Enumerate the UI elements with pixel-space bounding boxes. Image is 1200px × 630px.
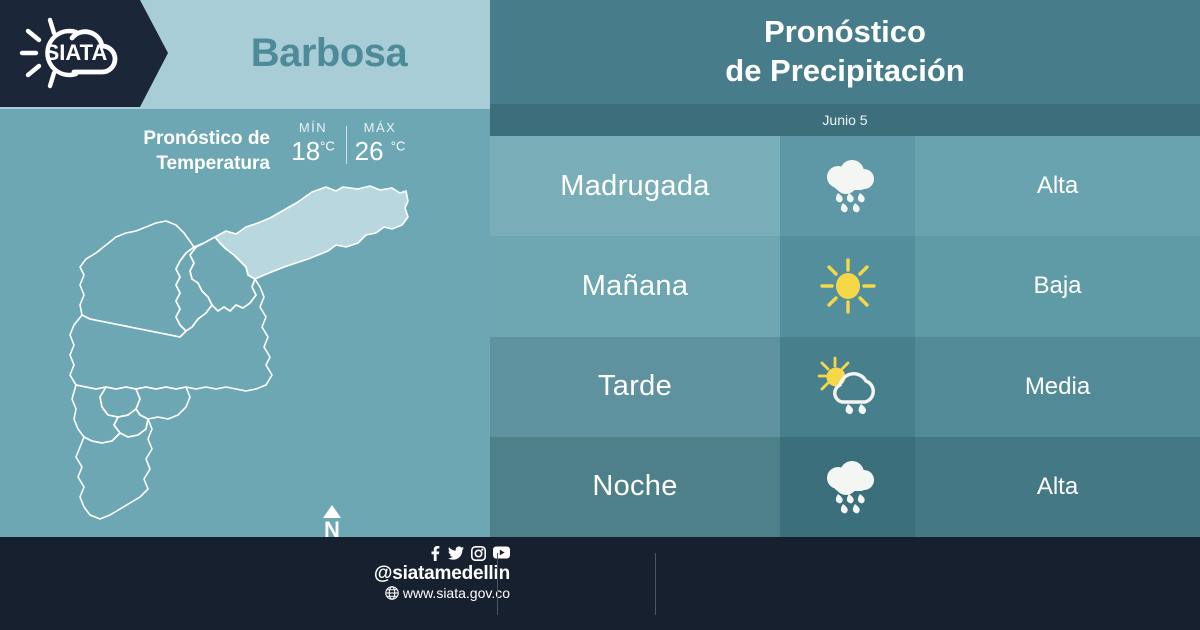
right-panel: Pronóstico de Precipitación Junio 5 Madr…: [490, 0, 1200, 537]
map-region-caldas: [76, 419, 152, 519]
instagram-icon[interactable]: [471, 546, 486, 561]
forecast-period-label: Noche: [592, 470, 677, 503]
forecast-icon-cell: [780, 236, 915, 336]
aburra-valley-map-svg: [40, 175, 450, 525]
forecast-icon-cell: [780, 437, 915, 537]
precipitation-forecast-table: Madrugada: [490, 136, 1200, 537]
social-icons: [330, 546, 510, 561]
temperature-min-label: MÍN: [280, 120, 346, 135]
temperature-max-label: MÁX: [347, 120, 413, 135]
page-title: Barbosa: [168, 0, 490, 107]
rain-cloud-icon: [816, 157, 880, 215]
temperature-title-line1: Pronóstico de: [143, 128, 270, 149]
map-region-envigado: [136, 387, 190, 419]
temperature-min: MÍN 18°C: [280, 120, 346, 166]
forecast-date: Junio 5: [490, 104, 1200, 136]
forecast-level-label: Alta: [1037, 473, 1078, 501]
forecast-period-label: Madrugada: [560, 170, 709, 203]
rain-cloud-icon: [816, 458, 880, 516]
sun-icon: [817, 255, 879, 317]
forecast-level-label: Media: [1025, 373, 1090, 401]
temperature-values: MÍN 18°C MÁX 26 °C: [280, 120, 420, 166]
footer-divider: [497, 553, 498, 615]
forecast-period-label: Mañana: [582, 270, 689, 303]
forecast-period-cell: Madrugada: [490, 136, 780, 236]
precipitation-title-line1: Pronóstico: [764, 13, 926, 52]
forecast-level-label: Alta: [1037, 172, 1078, 200]
map-region-bello: [80, 221, 194, 337]
globe-icon: [385, 586, 399, 600]
table-row: Noche: [490, 437, 1200, 537]
temperature-max: MÁX 26 °C: [347, 120, 413, 166]
forecast-period-cell: Mañana: [490, 236, 780, 336]
table-row: Mañana: [490, 236, 1200, 336]
siata-logo-banner: SIATA: [0, 0, 168, 107]
forecast-level-cell: Alta: [915, 136, 1200, 236]
temperature-title-line2: Temperatura: [156, 153, 270, 174]
map-region-copacabana: [176, 243, 212, 331]
temperature-min-value: 18°C: [280, 137, 346, 166]
footer-divider: [655, 553, 656, 615]
temperature-title: Pronóstico de Temperatura: [95, 126, 270, 177]
map-region-medellin: [70, 279, 272, 391]
forecast-level-cell: Alta: [915, 437, 1200, 537]
temperature-forecast-block: Pronóstico de Temperatura MÍN 18°C MÁX 2…: [0, 112, 490, 182]
forecast-icon-cell: [780, 136, 915, 236]
forecast-period-cell: Noche: [490, 437, 780, 537]
map-region-la-estrella: [72, 385, 120, 443]
precipitation-title-line2: de Precipitación: [725, 52, 964, 91]
footer: @siatamedellin www.siata.gov.co Con el a…: [0, 537, 1200, 630]
weather-forecast-infographic: SIATA Barbosa Pronóstico de Temperatura …: [0, 0, 1200, 630]
youtube-icon[interactable]: [493, 546, 510, 559]
forecast-period-label: Tarde: [598, 370, 672, 403]
forecast-period-cell: Tarde: [490, 337, 780, 437]
twitter-icon[interactable]: [448, 546, 464, 561]
table-row: Madrugada: [490, 136, 1200, 236]
social-handle[interactable]: @siatamedellin: [330, 563, 510, 585]
forecast-level-cell: Baja: [915, 236, 1200, 336]
website-row[interactable]: www.siata.gov.co: [330, 585, 510, 602]
sun-cloud-icon: SIATA: [14, 12, 134, 94]
temperature-max-value: 26 °C: [347, 137, 413, 166]
facebook-icon[interactable]: [428, 546, 441, 561]
forecast-icon-cell: [780, 337, 915, 437]
forecast-level-cell: Media: [915, 337, 1200, 437]
municipality-map: N: [40, 175, 450, 525]
table-row: Tarde: [490, 337, 1200, 437]
website-label: www.siata.gov.co: [403, 585, 510, 602]
sun-cloud-rain-icon: [813, 356, 883, 418]
siata-logo-text: SIATA: [45, 40, 108, 65]
forecast-level-label: Baja: [1033, 272, 1081, 300]
left-panel: SIATA Barbosa Pronóstico de Temperatura …: [0, 0, 490, 537]
social-block: @siatamedellin www.siata.gov.co: [330, 546, 510, 602]
precipitation-header: Pronóstico de Precipitación: [490, 0, 1200, 104]
